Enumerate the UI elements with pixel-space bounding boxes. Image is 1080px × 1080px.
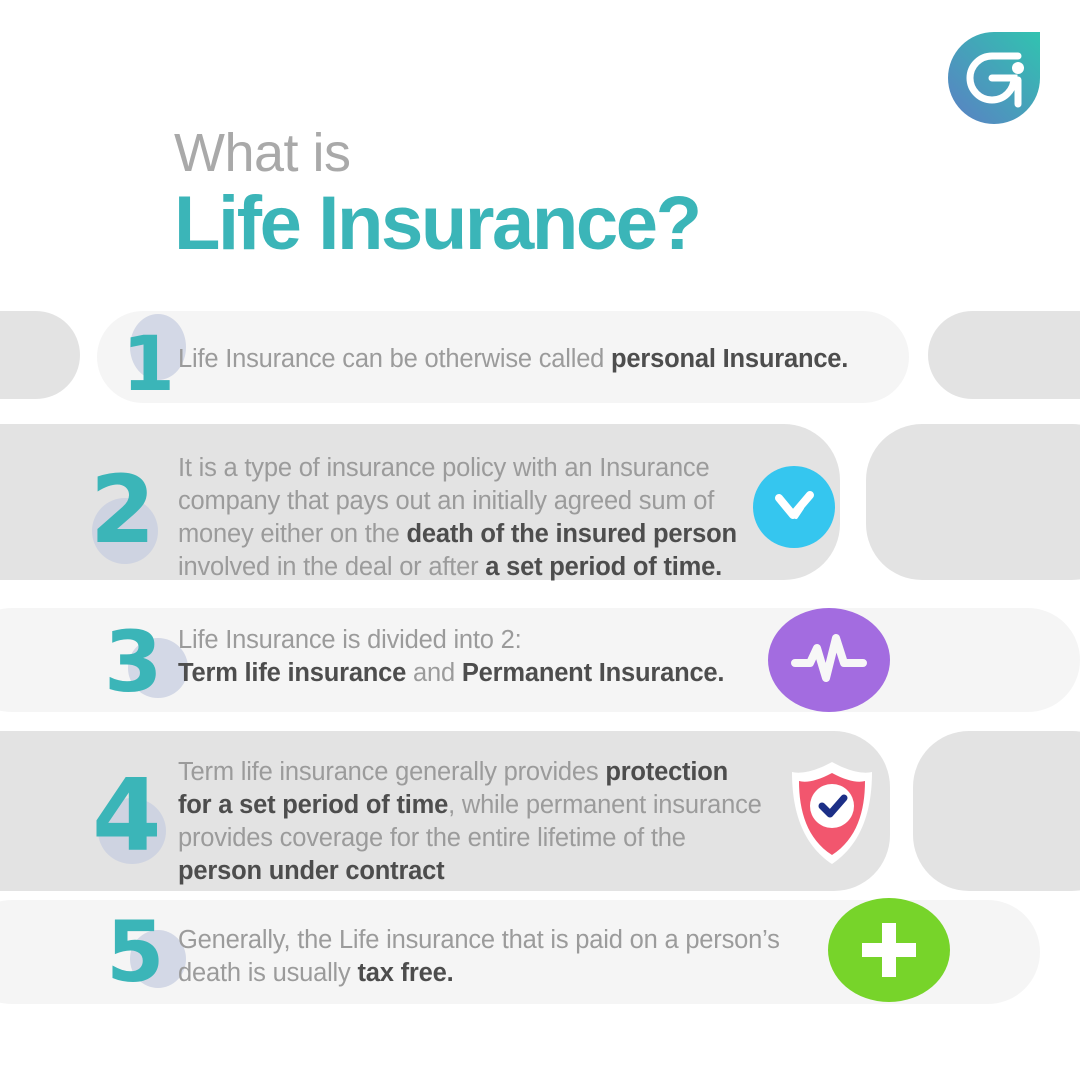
row-4-line-2: for a set period of time, while permanen… bbox=[178, 789, 778, 822]
row-4-right-panel bbox=[913, 731, 1080, 891]
row-4-line-1: Term life insurance generally provides p… bbox=[178, 756, 778, 789]
shield-check-icon bbox=[786, 758, 878, 870]
row-4-number: 4 bbox=[92, 766, 160, 866]
title-main: Life Insurance? bbox=[174, 185, 874, 263]
row-1-text: Life Insurance can be otherwise called p… bbox=[178, 343, 898, 376]
row-4-text: Term life insurance generally provides p… bbox=[178, 756, 778, 889]
row-1-number: 1 bbox=[122, 326, 173, 402]
row-1-right-panel bbox=[928, 311, 1080, 399]
page-title: What is Life Insurance? bbox=[174, 128, 874, 263]
title-kicker: What is bbox=[174, 128, 874, 179]
heartbeat-pulse-icon bbox=[768, 608, 890, 712]
row-2-line-2: company that pays out an initially agree… bbox=[178, 485, 758, 518]
gi-leaf-logo bbox=[946, 30, 1042, 126]
row-3-text: Life Insurance is divided into 2: Term l… bbox=[178, 624, 818, 690]
row-5-number: 5 bbox=[106, 910, 162, 994]
row-1-left-panel bbox=[0, 311, 80, 399]
row-2-line-1: It is a type of insurance policy with an… bbox=[178, 452, 758, 485]
row-5-line-1: Generally, the Life insurance that is pa… bbox=[178, 924, 828, 957]
check-clock-icon bbox=[753, 466, 835, 548]
row-4-line-3: provides coverage for the entire lifetim… bbox=[178, 822, 778, 855]
row-2-line-4: involved in the deal or after a set peri… bbox=[178, 551, 758, 584]
row-2-line-3: money either on the death of the insured… bbox=[178, 518, 758, 551]
row-5-text: Generally, the Life insurance that is pa… bbox=[178, 924, 828, 990]
row-2-text: It is a type of insurance policy with an… bbox=[178, 452, 758, 585]
plus-medical-icon bbox=[828, 898, 950, 1002]
row-4-line-4: person under contract bbox=[178, 855, 778, 888]
row-3-line-1: Life Insurance is divided into 2: bbox=[178, 624, 818, 657]
row-1-line-1: Life Insurance can be otherwise called p… bbox=[178, 343, 898, 376]
infographic-canvas: What is Life Insurance? 1 Life Insurance… bbox=[0, 0, 1080, 1080]
row-3-number: 3 bbox=[104, 620, 160, 704]
row-5-line-2: death is usually tax free. bbox=[178, 957, 828, 990]
row-2-number: 2 bbox=[90, 464, 153, 558]
row-2-right-panel bbox=[866, 424, 1080, 580]
row-3-line-2: Term life insurance and Permanent Insura… bbox=[178, 657, 818, 690]
